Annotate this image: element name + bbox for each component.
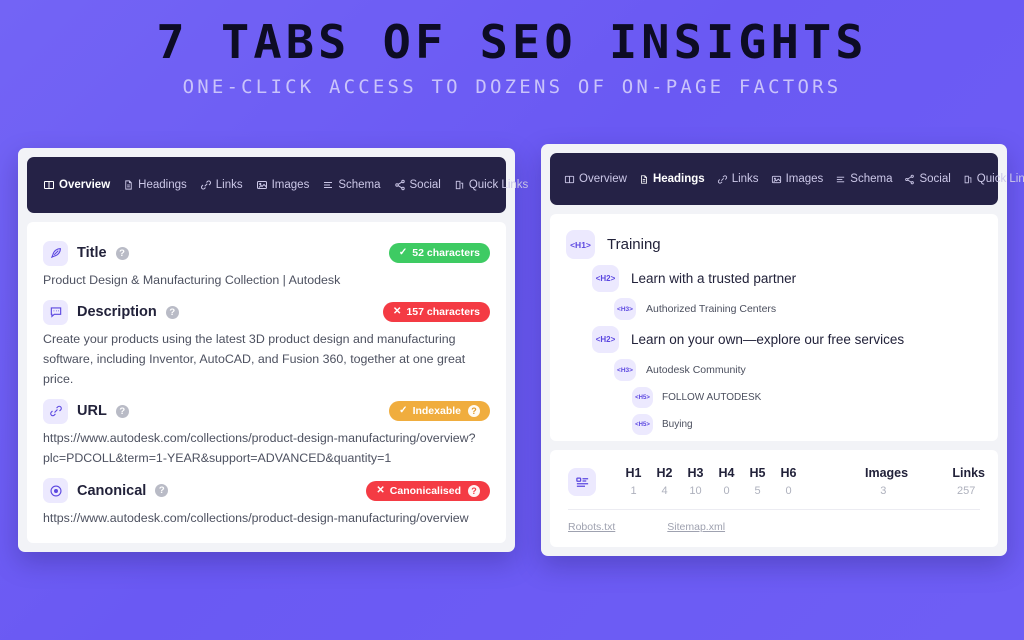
cross-icon: ✕ [393, 307, 401, 317]
tab-headings[interactable]: Headings [123, 179, 187, 191]
row-header: URL ? ✓ Indexable ? [43, 396, 490, 426]
overview-row-canonical: Canonical ? ✕ Canonicalised ? https://ww… [43, 476, 490, 528]
tab-links[interactable]: Links [200, 179, 243, 191]
tab-label: Images [272, 179, 310, 191]
tab-label: Links [216, 179, 243, 191]
heading-tag-badge: <H3> [614, 359, 636, 381]
book-icon [43, 179, 55, 191]
page-title: 7 TABS OF SEO INSIGHTS [0, 18, 1024, 66]
heading-item: <H3> Authorized Training Centers [614, 298, 982, 320]
tab-social[interactable]: Social [394, 179, 441, 191]
tab-label: Quick Links [977, 173, 1024, 185]
link-icon [200, 179, 212, 191]
document-icon [123, 179, 134, 191]
row-header: Description ? ✕ 157 characters [43, 297, 490, 327]
stat-key: H6 [773, 466, 804, 480]
help-icon[interactable]: ? [155, 484, 168, 497]
heading-text: Training [607, 236, 661, 253]
stat-value: 4 [649, 485, 680, 497]
stats-card: H1 1 H2 4 H3 10 H4 0 H5 5 [550, 450, 998, 547]
headings-panel: Overview Headings Links Images Schema So… [541, 144, 1007, 556]
heading-item: <H1> Training [566, 230, 982, 259]
stats-row: H1 1 H2 4 H3 10 H4 0 H5 5 [568, 466, 980, 497]
heading-tag-badge: <H3> [614, 298, 636, 320]
stat-h3: H3 10 [680, 466, 711, 497]
heading-item: <H3> Autodesk Community [614, 359, 982, 381]
stat-h6: H6 0 [773, 466, 804, 497]
external-link-icon [963, 174, 973, 185]
target-icon [43, 478, 68, 503]
stat-key: H4 [711, 466, 742, 480]
row-label: Description [77, 304, 157, 320]
help-icon[interactable]: ? [116, 247, 129, 260]
external-link-icon [454, 179, 465, 191]
document-icon [639, 174, 649, 185]
status-badge: ✓ Indexable ? [389, 401, 490, 421]
row-label: Canonical [77, 483, 146, 499]
tab-links[interactable]: Links [717, 173, 759, 185]
image-icon [256, 179, 268, 191]
tab-label: Social [919, 173, 950, 185]
stat-value: 5 [742, 485, 773, 497]
tab-label: Images [786, 173, 824, 185]
row-value: https://www.autodesk.com/collections/pro… [43, 508, 490, 528]
stats-wrapper: H1 1 H2 4 H3 10 H4 0 H5 5 [550, 450, 998, 547]
heading-item: <H2> Learn on your own—explore our free … [592, 326, 982, 353]
overview-card: Title ? ✓ 52 characters Product Design &… [27, 222, 506, 543]
row-header: Title ? ✓ 52 characters [43, 238, 490, 268]
summary-icon [568, 468, 596, 496]
stat-images: Images 3 [865, 466, 902, 497]
book-icon [564, 174, 575, 185]
row-value: https://www.autodesk.com/collections/pro… [43, 428, 490, 468]
tabbar-left: Overview Headings Links Images Schema So… [27, 157, 506, 213]
page-subtitle: ONE-CLICK ACCESS TO DOZENS OF ON-PAGE FA… [0, 76, 1024, 98]
tab-headings[interactable]: Headings [639, 173, 705, 185]
link-icon [717, 174, 728, 185]
link-icon [43, 399, 68, 424]
heading-text: Learn with a trusted partner [631, 271, 796, 286]
badge-help-icon[interactable]: ? [468, 485, 480, 497]
status-badge: ✕ 157 characters [383, 302, 490, 322]
cross-icon: ✕ [376, 486, 384, 496]
tab-label: Quick Links [469, 179, 528, 191]
tab-overview[interactable]: Overview [564, 173, 627, 185]
heading-text: Learn on your own—explore our free servi… [631, 332, 904, 347]
stat-value: 0 [711, 485, 742, 497]
stat-key: H3 [680, 466, 711, 480]
stat-key: H2 [649, 466, 680, 480]
tabbar-right: Overview Headings Links Images Schema So… [550, 153, 998, 205]
heading-text: FOLLOW AUTODESK [662, 392, 761, 403]
badge-label: 52 characters [412, 247, 480, 259]
list-icon [322, 179, 334, 191]
tab-schema[interactable]: Schema [322, 179, 380, 191]
stat-key: Links [952, 466, 980, 480]
row-label: URL [77, 403, 107, 419]
share-icon [394, 179, 406, 191]
stat-value: 10 [680, 485, 711, 497]
tab-label: Links [732, 173, 759, 185]
stat-key: H5 [742, 466, 773, 480]
heading-text: Buying [662, 419, 693, 430]
tab-images[interactable]: Images [771, 173, 824, 185]
help-icon[interactable]: ? [116, 405, 129, 418]
heading-item: <H2> Learn with a trusted partner [592, 265, 982, 292]
overview-panel: Overview Headings Links Images Schema So… [18, 148, 515, 552]
stat-value: 1 [618, 485, 649, 497]
stat-key: Images [865, 466, 902, 480]
image-icon [771, 174, 782, 185]
tab-schema[interactable]: Schema [835, 173, 892, 185]
list-icon [835, 174, 846, 185]
footer-links: Robots.txt Sitemap.xml [568, 510, 980, 537]
tab-label: Social [410, 179, 441, 191]
heading-item: <H5> Buying [632, 414, 982, 435]
row-label: Title [77, 245, 107, 261]
heading-tag-badge: <H5> [632, 387, 653, 408]
stat-h4: H4 0 [711, 466, 742, 497]
tab-label: Overview [579, 173, 627, 185]
hero-banner: 7 TABS OF SEO INSIGHTS ONE-CLICK ACCESS … [0, 0, 1024, 128]
tab-quick-links[interactable]: Quick Links [963, 173, 1024, 185]
overview-row-url: URL ? ✓ Indexable ? https://www.autodesk… [43, 396, 490, 468]
heading-text: Autodesk Community [646, 364, 746, 376]
robots-txt-link[interactable]: Robots.txt [568, 521, 615, 533]
check-icon: ✓ [399, 406, 407, 416]
chat-bubble-icon [43, 300, 68, 325]
feather-icon [43, 241, 68, 266]
heading-tag-badge: <H2> [592, 326, 619, 353]
stat-key: H1 [618, 466, 649, 480]
share-icon [904, 174, 915, 185]
tab-label: Schema [850, 173, 892, 185]
tab-images[interactable]: Images [256, 179, 310, 191]
heading-item: <H5> FOLLOW AUTODESK [632, 387, 982, 408]
stat-h2: H2 4 [649, 466, 680, 497]
badge-label: Canonicalised [390, 485, 461, 497]
tab-label: Headings [653, 173, 705, 185]
headings-card: <H1> Training <H2> Learn with a trusted … [550, 214, 998, 441]
sitemap-xml-link[interactable]: Sitemap.xml [667, 521, 725, 533]
row-value: Product Design & Manufacturing Collectio… [43, 270, 490, 290]
status-badge: ✓ 52 characters [389, 243, 490, 263]
stat-h1: H1 1 [618, 466, 649, 497]
badge-help-icon[interactable]: ? [468, 405, 480, 417]
tab-label: Schema [338, 179, 380, 191]
stat-value: 3 [865, 485, 902, 497]
tab-label: Overview [59, 179, 110, 191]
heading-text: Authorized Training Centers [646, 303, 776, 315]
heading-tag-badge: <H2> [592, 265, 619, 292]
row-header: Canonical ? ✕ Canonicalised ? [43, 476, 490, 506]
help-icon[interactable]: ? [166, 306, 179, 319]
stat-value: 257 [952, 485, 980, 497]
stat-value: 0 [773, 485, 804, 497]
tab-overview[interactable]: Overview [43, 179, 110, 191]
overview-row-title: Title ? ✓ 52 characters Product Design &… [43, 238, 490, 290]
tab-quick-links[interactable]: Quick Links [454, 179, 528, 191]
tab-social[interactable]: Social [904, 173, 950, 185]
overview-row-description: Description ? ✕ 157 characters Create yo… [43, 297, 490, 389]
badge-label: Indexable [413, 405, 461, 417]
status-badge: ✕ Canonicalised ? [366, 481, 490, 501]
heading-tag-badge: <H1> [566, 230, 595, 259]
stat-links: Links 257 [952, 466, 980, 497]
heading-tag-badge: <H5> [632, 414, 653, 435]
badge-label: 157 characters [406, 306, 480, 318]
check-icon: ✓ [399, 248, 407, 258]
tab-label: Headings [138, 179, 187, 191]
row-value: Create your products using the latest 3D… [43, 329, 490, 389]
stat-h5: H5 5 [742, 466, 773, 497]
